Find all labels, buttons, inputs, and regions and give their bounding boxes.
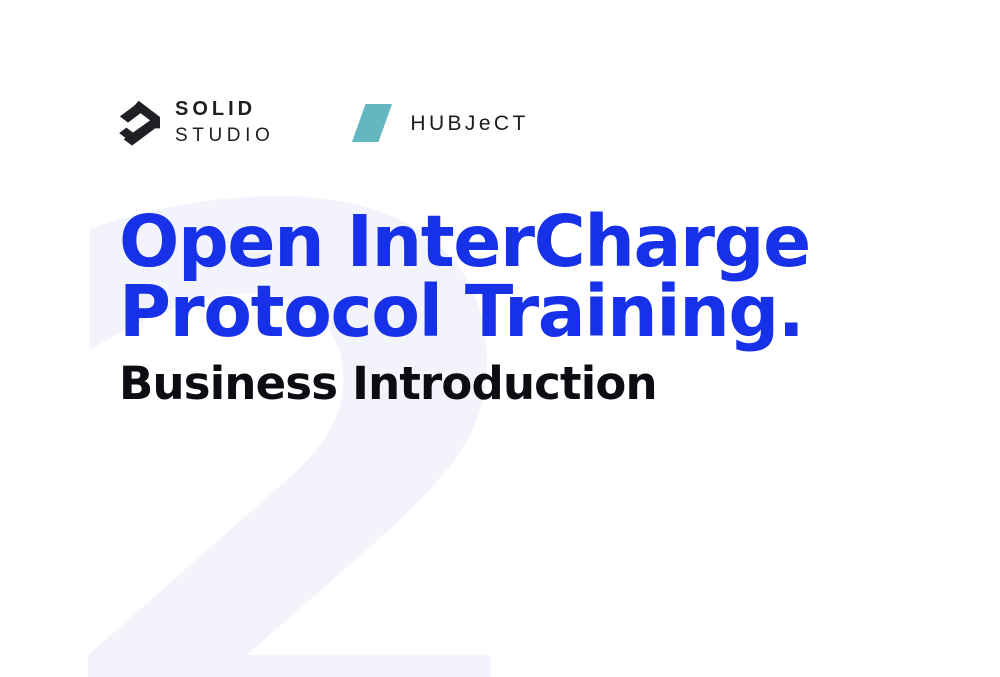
logo-bar: SOLID STUDIO HUBJeCT xyxy=(119,98,529,149)
page-subtitle: Business Introduction xyxy=(119,360,949,407)
solid-studio-line-two: STUDIO xyxy=(175,124,274,149)
solid-studio-line-one: SOLID xyxy=(175,98,274,121)
headline-block: Open InterCharge Protocol Training. Busi… xyxy=(119,207,949,407)
page-title-line-two: Protocol Training. xyxy=(119,277,949,347)
page-title: Open InterCharge Protocol Training. xyxy=(119,207,949,348)
solid-studio-logo: SOLID STUDIO xyxy=(119,98,274,149)
solid-studio-mark-icon xyxy=(119,100,161,146)
hubject-parallelogram-icon xyxy=(352,104,392,142)
page-title-line-one: Open InterCharge xyxy=(119,207,949,277)
presentation-slide: 2 SOLID STUDIO HUBJeCT xyxy=(0,0,1000,677)
hubject-wordmark: HUBJeCT xyxy=(410,113,528,134)
hubject-logo: HUBJeCT xyxy=(352,104,528,142)
solid-studio-wordmark: SOLID STUDIO xyxy=(175,98,274,149)
